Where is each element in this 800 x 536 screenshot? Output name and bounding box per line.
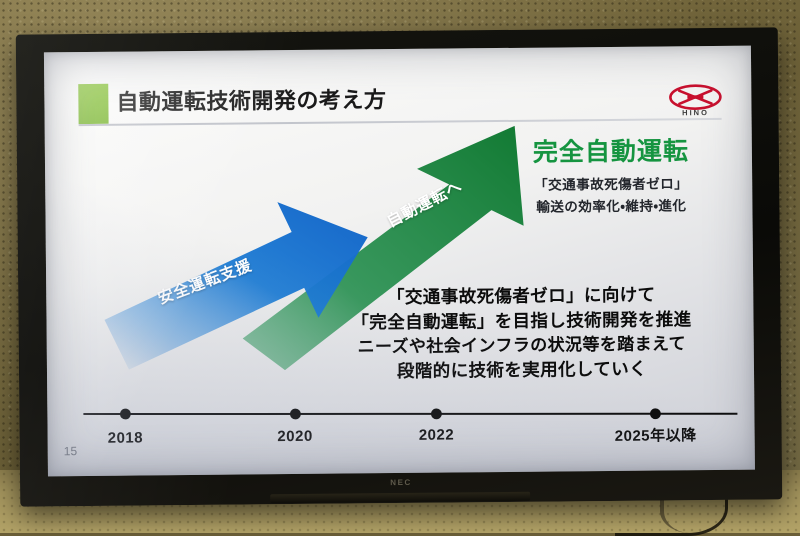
headline-block: 完全自動運転 「交通事故死傷者ゼロ」 輸送の効率化・維持・進化	[496, 138, 727, 216]
timeline-label: 2020	[277, 428, 313, 445]
presentation-slide: 自動運転技術開発の考え方 HINO	[44, 46, 755, 477]
slide-page-number: 15	[64, 444, 77, 458]
monitor-screen: 自動運転技術開発の考え方 HINO	[44, 46, 755, 477]
display-monitor: NEC 自動運転技術開発の考え方 HINO	[16, 27, 782, 506]
body-line: 「完全自動運転」を目指し技術開発を推進	[301, 307, 741, 336]
timeline-label: 2018	[108, 429, 144, 446]
timeline: 2018 2020 2022 2025年以降	[47, 398, 755, 465]
timeline-label: 2022	[419, 426, 455, 443]
headline-sub-line-2: 輸送の効率化・維持・進化	[496, 193, 726, 215]
room-scene: NEC 自動運転技術開発の考え方 HINO	[0, 0, 800, 533]
headline-sub-line-1: 「交通事故死傷者ゼロ」	[496, 171, 726, 193]
headline-main: 完全自動運転	[496, 138, 726, 168]
body-line: ニーズや社会インフラの状況等を踏まえて	[302, 331, 742, 359]
monitor-stand-lip	[270, 492, 530, 503]
timeline-label: 2025年以降	[615, 424, 697, 446]
body-text-block: 「交通事故死傷者ゼロ」に向けて 「完全自動運転」を目指し技術開発を推進 ニーズや…	[301, 282, 742, 385]
monitor-brand-label: NEC	[20, 474, 782, 490]
body-line: 段階的に技術を実用化していく	[302, 356, 742, 385]
